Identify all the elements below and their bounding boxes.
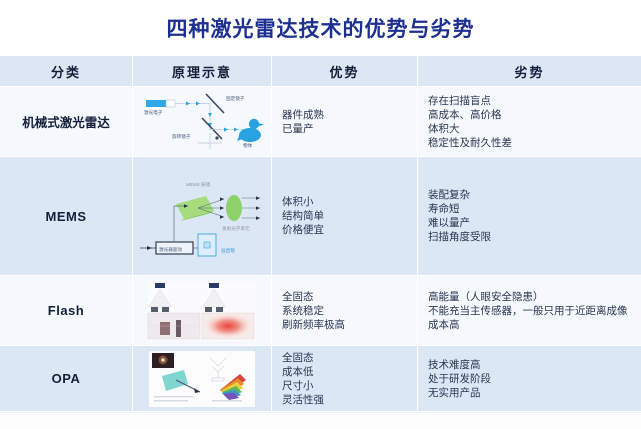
page-title-bar: 四种激光雷达技术的优势与劣势: [0, 0, 641, 56]
diagram-label-laser-driver: 激光器驱动: [159, 246, 182, 253]
category-label: 机械式激光雷达: [0, 112, 132, 131]
advantages-list: 全固态 成本低 尺寸小 灵活性强: [272, 351, 324, 407]
list-item: 体积大: [428, 122, 512, 136]
table-row: OPA: [0, 346, 641, 412]
advantages-list: 器件成熟 已量产: [272, 108, 324, 136]
cell-disadvantages: 技术难度高 处于研发阶段 无实用产品: [418, 346, 641, 411]
diagram-label-fixed-mirror: 固定镜子: [226, 95, 245, 102]
disadvantages-list: 高能量（人眼安全隐患） 不能充当主传感器，一般只用于近距离成像 成本高: [418, 290, 628, 332]
cell-disadvantages: 存在扫描盲点 高成本、高价格 体积大 稳定性及耐久性差: [418, 87, 641, 156]
comparison-table: 分类 原理示意 优势 劣势 机械式激光雷达: [0, 56, 641, 413]
list-item: 稳定性及耐久性差: [428, 136, 512, 150]
list-item: 处于研发阶段: [428, 372, 491, 386]
list-item: 体积小: [282, 195, 324, 209]
list-item: 装配复杂: [428, 188, 491, 202]
cell-advantages: 全固态 系统稳定 刷新频率极高: [272, 276, 418, 345]
cell-disadvantages: 装配复杂 寿命短 难以量产 扫描角度受限: [418, 157, 641, 275]
column-header-disadvantages-label: 劣势: [514, 62, 544, 81]
cell-advantages: 器件成熟 已量产: [272, 87, 418, 156]
column-header-disadvantages: 劣势: [418, 56, 641, 86]
flash-lidar-diagram: [133, 280, 271, 342]
list-item: 技术难度高: [428, 358, 491, 372]
list-item: 存在扫描盲点: [428, 94, 512, 108]
diagram-label-mems-mirror: MEMS 振镜: [186, 181, 211, 188]
diagram-label-rotating-mirror: 旋转镜子: [172, 133, 191, 140]
list-item: 扫描角度受限: [428, 230, 491, 244]
cell-principle-diagram: [133, 276, 272, 345]
list-item: 高能量（人眼安全隐患）: [428, 290, 628, 304]
cell-disadvantages: 高能量（人眼安全隐患） 不能充当主传感器，一般只用于近距离成像 成本高: [418, 276, 641, 345]
cell-advantages: 全固态 成本低 尺寸小 灵活性强: [272, 346, 418, 411]
page-title: 四种激光雷达技术的优势与劣势: [167, 13, 475, 43]
table-row: Flash: [0, 276, 641, 346]
advantages-list: 体积小 结构简单 价格便宜: [272, 195, 324, 237]
cell-category: MEMS: [0, 157, 133, 275]
cell-principle-diagram: [133, 346, 272, 411]
column-header-principle: 原理示意: [133, 56, 272, 86]
list-item: 寿命短: [428, 202, 491, 216]
cell-principle-diagram: 固定镜子 激光电子 旋转镜子 物体: [133, 87, 272, 156]
disadvantages-list: 装配复杂 寿命短 难以量产 扫描角度受限: [418, 188, 491, 244]
list-item: 难以量产: [428, 216, 491, 230]
cell-category: 机械式激光雷达: [0, 87, 133, 156]
list-item: 尺寸小: [282, 379, 324, 393]
list-item: 器件成熟: [282, 108, 324, 122]
list-item: 全固态: [282, 290, 345, 304]
list-item: 不能充当主传感器，一般只用于近距离成像: [428, 304, 628, 318]
list-item: 全固态: [282, 351, 324, 365]
table-header-row: 分类 原理示意 优势 劣势: [0, 56, 641, 87]
table-row: MEMS: [0, 157, 641, 276]
advantages-list: 全固态 系统稳定 刷新频率极高: [272, 290, 345, 332]
column-header-advantages-label: 优势: [329, 62, 359, 81]
disadvantages-list: 技术难度高 处于研发阶段 无实用产品: [418, 358, 491, 400]
list-item: 灵活性强: [282, 393, 324, 407]
diagram-label-laser-electron: 激光电子: [144, 109, 163, 116]
list-item: 系统稳定: [282, 304, 345, 318]
list-item: 结构简单: [282, 209, 324, 223]
cell-category: Flash: [0, 276, 133, 345]
list-item: 已量产: [282, 122, 324, 136]
list-item: 高成本、高价格: [428, 108, 512, 122]
diagram-label-emission-optics: 发射光学单元: [222, 225, 250, 232]
column-header-category: 分类: [0, 56, 133, 86]
diagram-label-object: 物体: [243, 142, 253, 149]
mems-lidar-diagram: MEMS 振镜 发射光学单元 准直镜 激光器驱动: [133, 166, 271, 266]
category-label: MEMS: [0, 209, 132, 224]
column-header-advantages: 优势: [272, 56, 418, 86]
disadvantages-list: 存在扫描盲点 高成本、高价格 体积大 稳定性及耐久性差: [418, 94, 512, 150]
list-item: 无实用产品: [428, 386, 491, 400]
category-label: OPA: [0, 371, 132, 386]
opa-lidar-diagram: [133, 350, 271, 408]
cell-advantages: 体积小 结构简单 价格便宜: [272, 157, 418, 275]
diagram-label-collimator: 准直镜: [221, 247, 235, 254]
column-header-category-label: 分类: [51, 62, 81, 81]
cell-principle-diagram: MEMS 振镜 发射光学单元 准直镜 激光器驱动: [133, 157, 272, 275]
list-item: 刷新频率极高: [282, 318, 345, 332]
cell-category: OPA: [0, 346, 133, 411]
mechanical-lidar-diagram: 固定镜子 激光电子 旋转镜子 物体: [133, 91, 271, 153]
column-header-principle-label: 原理示意: [172, 62, 232, 81]
list-item: 价格便宜: [282, 223, 324, 237]
list-item: 成本低: [282, 365, 324, 379]
category-label: Flash: [0, 303, 132, 318]
bottom-strip: [0, 413, 641, 429]
list-item: 成本高: [428, 318, 628, 332]
table-row: 机械式激光雷达: [0, 87, 641, 157]
